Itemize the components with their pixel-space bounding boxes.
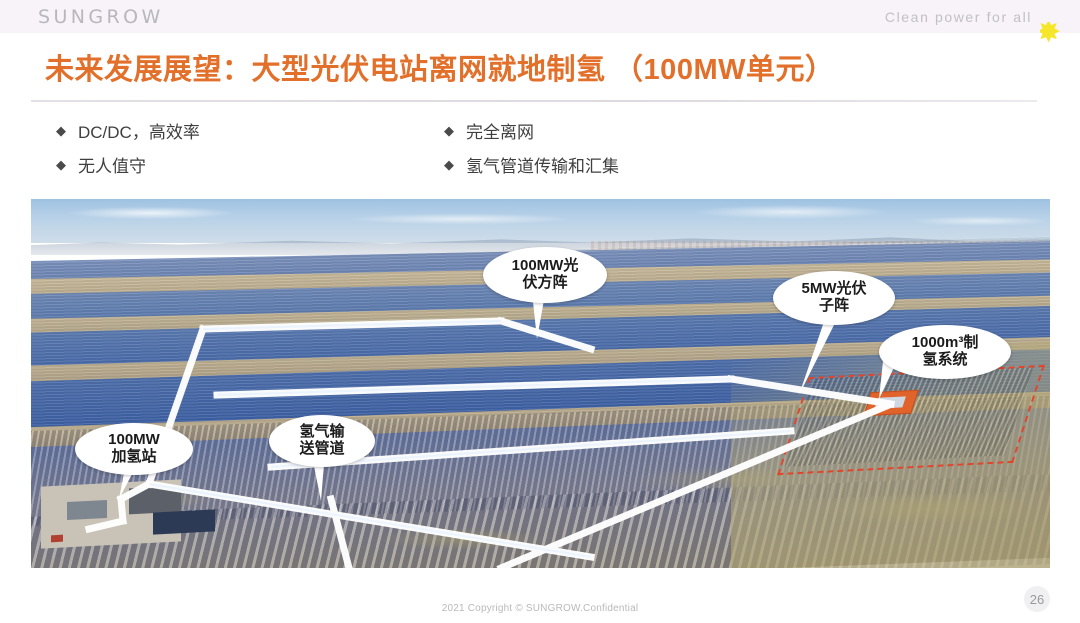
page-title: 未来发展展望：大型光伏电站离网就地制氢 （100MW单元）	[45, 46, 834, 88]
callout-h2-station-100mw: 100MW 加氢站	[75, 423, 193, 475]
callout-line-1: 5MW光伏	[802, 280, 867, 297]
callout-line-2: 加氢站	[111, 448, 156, 465]
bullet-item-pipeline: ◆ 氢气管道传输和汇集	[444, 152, 619, 177]
callout-line-2: 氢系统	[922, 351, 967, 368]
brand-tagline: Clean power for all	[885, 9, 1032, 25]
bullet-list: ◆ DC/DC，高效率 ◆ 无人值守 ◆ 完全离网 ◆ 氢气管道传输和汇集	[56, 118, 956, 180]
bullet-item-unattended: ◆ 无人值守	[56, 152, 146, 177]
callout-pv-subarray-5mw: 5MW光伏 子阵	[773, 271, 895, 325]
diamond-bullet-icon: ◆	[56, 124, 66, 137]
bullet-label: 无人值守	[78, 152, 146, 177]
footer-copyright: 2021 Copyright © SUNGROW.Confidential	[0, 603, 1080, 614]
bullet-label: DC/DC，高效率	[78, 118, 200, 143]
solar-plant-aerial-photo: 100MW光 伏方阵 5MW光伏 子阵 1000m³制 氢系统 氢气输 送管道 …	[31, 199, 1050, 568]
callout-line-1: 1000m³制	[912, 334, 979, 351]
diamond-bullet-icon: ◆	[444, 158, 454, 171]
page-number-badge: 26	[1024, 586, 1050, 612]
corner-watermark-icon: ✸	[1040, 22, 1080, 48]
sungrow-logo: SUNGROW	[38, 6, 164, 28]
diamond-bullet-icon: ◆	[444, 124, 454, 137]
bullet-item-offgrid: ◆ 完全离网	[444, 118, 534, 143]
callout-pv-array-100mw: 100MW光 伏方阵	[483, 247, 607, 303]
callout-h2-pipeline: 氢气输 送管道	[269, 415, 375, 467]
diamond-bullet-icon: ◆	[56, 158, 66, 171]
callout-line-1: 100MW光	[512, 257, 579, 274]
bullet-label: 氢气管道传输和汇集	[466, 152, 619, 177]
title-divider	[31, 100, 1037, 102]
bullet-item-dcdc: ◆ DC/DC，高效率	[56, 118, 200, 143]
callout-line-2: 伏方阵	[522, 274, 567, 291]
callout-line-1: 100MW	[108, 431, 160, 448]
corner-watermark-glyph: ✸	[1040, 22, 1061, 48]
callout-h2-system-1000m3: 1000m³制 氢系统	[879, 325, 1011, 379]
callout-line-2: 送管道	[299, 440, 344, 457]
bullet-label: 完全离网	[466, 118, 534, 143]
callout-line-2: 子阵	[819, 297, 849, 314]
callout-line-1: 氢气输	[299, 423, 344, 440]
